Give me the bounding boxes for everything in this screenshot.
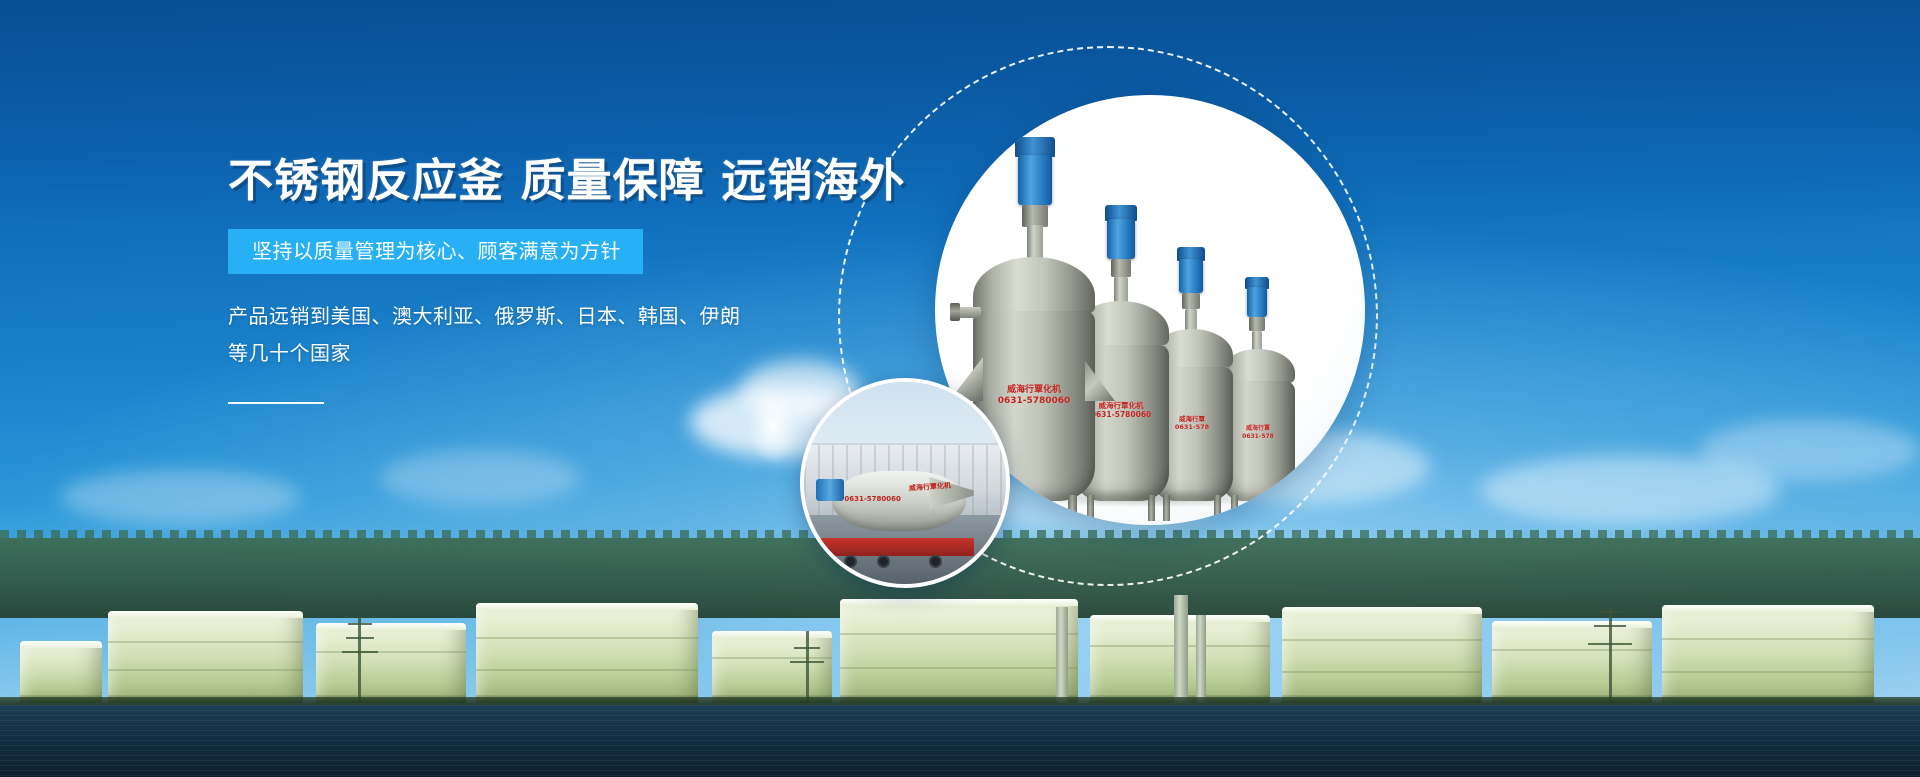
inset-motor	[816, 479, 844, 501]
chimney	[1056, 607, 1068, 703]
cloud	[380, 450, 580, 506]
storage-tank	[1662, 605, 1874, 703]
reactor-label-line1: 威海行覃化机	[1099, 401, 1144, 410]
reactor-label-line2: 0631-5780060	[1091, 410, 1152, 419]
storage-tank	[476, 603, 698, 703]
reactor-label-line1: 威海行覃	[1246, 425, 1270, 432]
inset-wheel	[929, 555, 942, 568]
description-paragraph: 产品远销到美国、澳大利亚、俄罗斯、日本、韩国、伊朗 等几十个国家	[228, 298, 848, 372]
cloud	[1700, 420, 1920, 480]
reactor-label-line2: 0631-578	[1242, 433, 1274, 440]
factory-photo-inset: 威海行覃化机 0631-5780060	[800, 378, 1010, 588]
inset-truck-bed	[820, 538, 974, 556]
subtitle-bar: 坚持以质量管理为核心、顾客满意为方针	[228, 229, 643, 274]
inset-wheel	[877, 555, 890, 568]
reactor-label-line2: 0631-5780060	[998, 396, 1071, 406]
description-line-1: 产品远销到美国、澳大利亚、俄罗斯、日本、韩国、伊朗	[228, 298, 848, 335]
subtitle-text: 坚持以质量管理为核心、顾客满意为方针	[252, 239, 621, 263]
chimney	[1174, 595, 1188, 703]
transmission-pylon	[1586, 607, 1636, 703]
storage-tank	[840, 599, 1078, 703]
storage-tank	[1282, 607, 1482, 703]
divider-rule	[228, 402, 324, 404]
banner-copy: 不锈钢反应釜 质量保障 远销海外 坚持以质量管理为核心、顾客满意为方针 产品远销…	[228, 158, 848, 404]
reactor-label-line1: 威海行覃化机	[1007, 385, 1061, 395]
storage-tank	[108, 611, 303, 703]
page-title: 不锈钢反应釜 质量保障 远销海外	[228, 158, 848, 203]
description-line-2: 等几十个国家	[228, 335, 848, 372]
reactor-label-line2: 0631-578	[1175, 423, 1209, 431]
banner-stage: 威海行覃 0631-578 威海行覃 0631-578	[0, 0, 1920, 777]
reactor-label-line1: 威海行覃	[1179, 415, 1205, 423]
inset-phone-label: 0631-5780060	[844, 495, 900, 503]
storage-tank	[20, 641, 102, 703]
reactor-shadow	[963, 485, 1338, 511]
chimney	[1196, 615, 1206, 703]
cloud	[60, 470, 300, 524]
transmission-pylon	[788, 631, 828, 703]
water-reflection	[0, 705, 1920, 777]
transmission-pylon	[338, 617, 382, 703]
